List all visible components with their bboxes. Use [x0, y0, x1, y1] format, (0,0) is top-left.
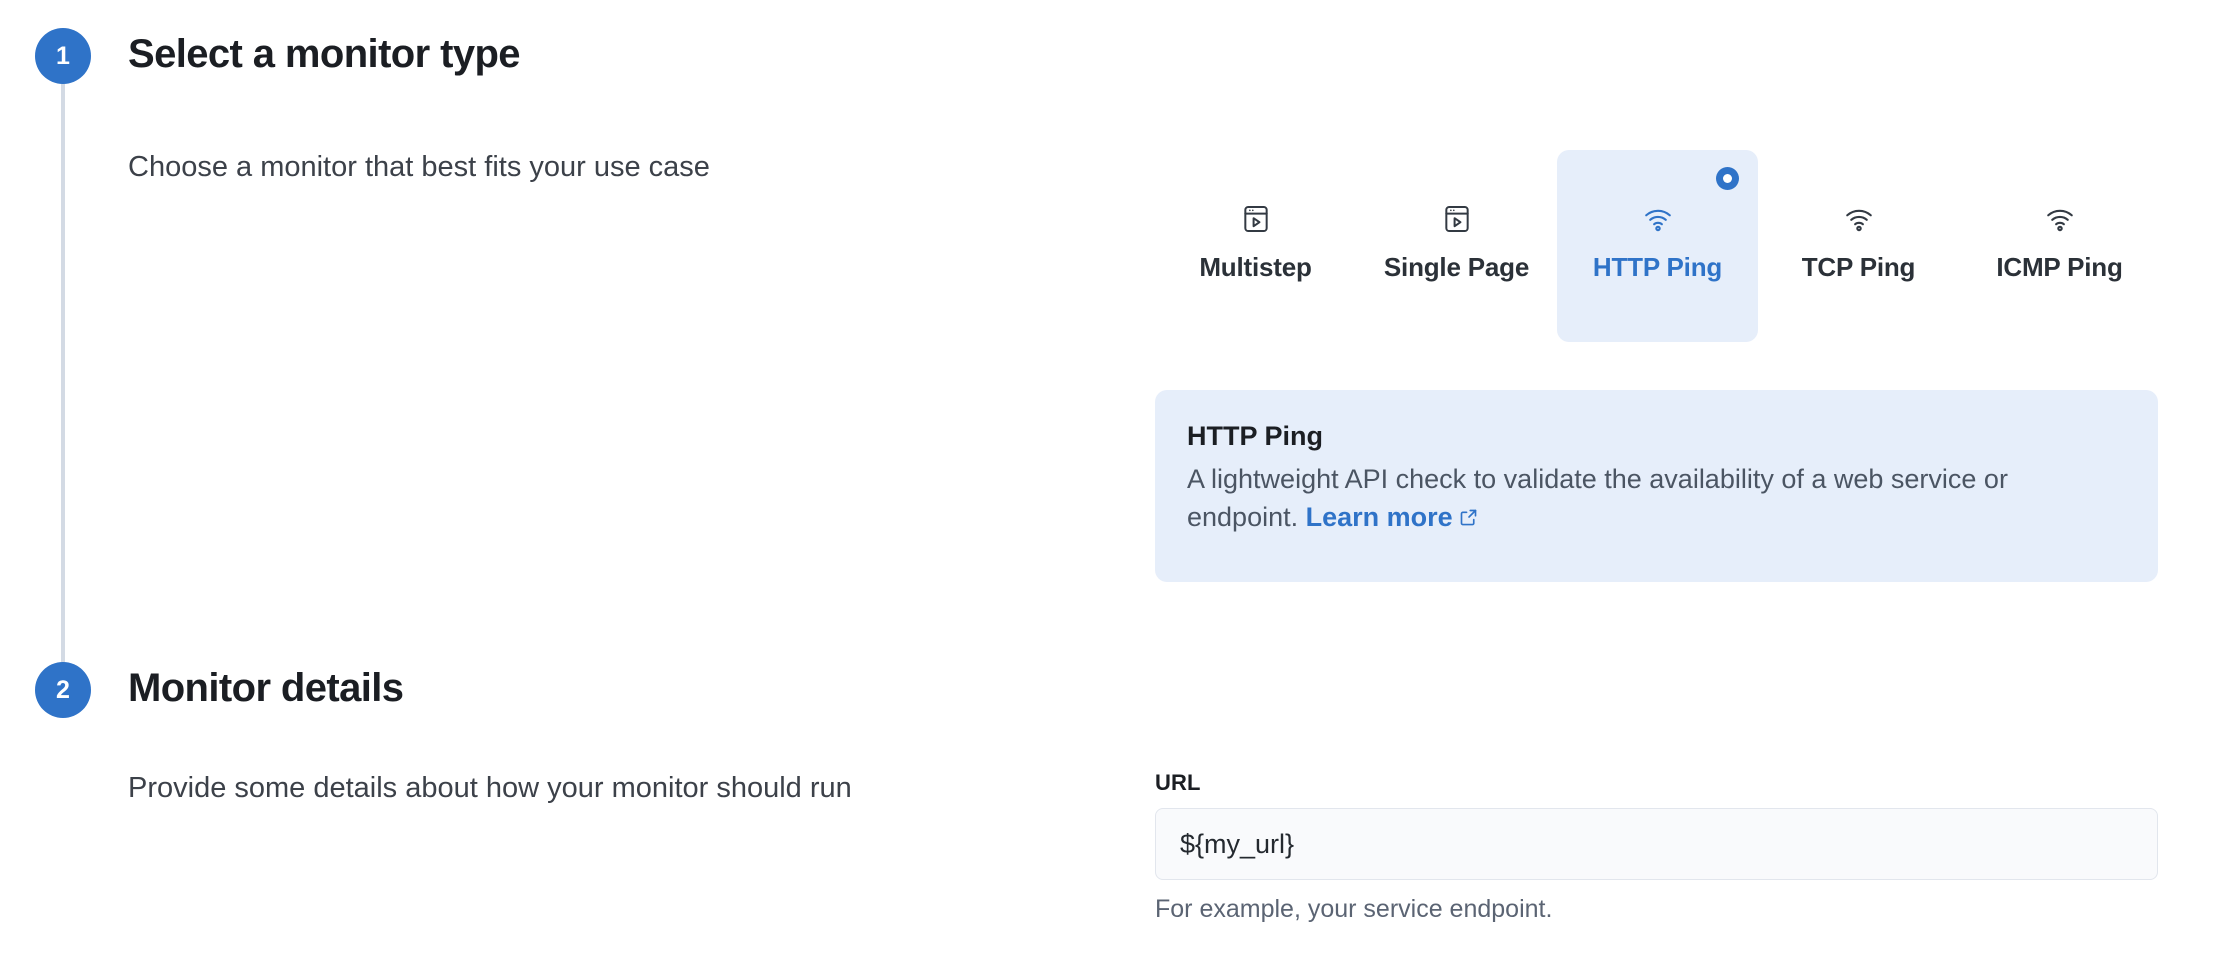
wifi-icon: [1842, 202, 1876, 236]
monitor-type-card-icmp-ping[interactable]: ICMP Ping: [1959, 150, 2160, 342]
step-2-number: 2: [56, 678, 70, 703]
url-input[interactable]: [1155, 808, 2158, 880]
url-field-group: URL For example, your service endpoint.: [1155, 770, 2158, 924]
monitor-type-label: HTTP Ping: [1593, 252, 1722, 283]
info-panel-title: HTTP Ping: [1187, 420, 2124, 454]
radio-selected-icon[interactable]: [1716, 167, 1739, 190]
browser-play-icon: [1239, 202, 1273, 236]
monitor-type-card-tcp-ping[interactable]: TCP Ping: [1758, 150, 1959, 342]
wifi-icon: [1641, 202, 1675, 236]
monitor-type-card-http-ping[interactable]: HTTP Ping: [1557, 150, 1758, 342]
step-2-title: Monitor details: [128, 666, 403, 710]
monitor-type-label: Multistep: [1199, 252, 1311, 283]
step-2-subtitle: Provide some details about how your moni…: [128, 771, 852, 806]
monitor-type-card-multistep[interactable]: Multistep: [1155, 150, 1356, 342]
wifi-icon: [2043, 202, 2077, 236]
step-1-subtitle: Choose a monitor that best fits your use…: [128, 150, 710, 185]
monitor-wizard-page: 1 Select a monitor type Choose a monitor…: [0, 0, 2218, 958]
url-field-label: URL: [1155, 770, 2158, 796]
step-1-title: Select a monitor type: [128, 32, 520, 76]
monitor-type-info-panel: HTTP Ping A lightweight API check to val…: [1155, 390, 2158, 582]
monitor-type-selector: Multistep Single Page: [1155, 150, 2160, 342]
monitor-type-label: ICMP Ping: [1996, 252, 2122, 283]
browser-play-icon: [1440, 202, 1474, 236]
monitor-type-label: TCP Ping: [1802, 252, 1915, 283]
external-link-icon: [1458, 500, 1479, 538]
step-2-badge: 2: [35, 662, 91, 718]
step-1-badge: 1: [35, 28, 91, 84]
info-panel-description-wrap: A lightweight API check to validate the …: [1187, 460, 2124, 539]
step-1-number: 1: [56, 44, 70, 69]
stepper-connector-line: [61, 80, 65, 670]
learn-more-label: Learn more: [1306, 502, 1453, 532]
url-field-help-text: For example, your service endpoint.: [1155, 894, 2158, 924]
monitor-type-label: Single Page: [1384, 252, 1529, 283]
monitor-type-card-single-page[interactable]: Single Page: [1356, 150, 1557, 342]
learn-more-link[interactable]: Learn more: [1306, 502, 1479, 532]
